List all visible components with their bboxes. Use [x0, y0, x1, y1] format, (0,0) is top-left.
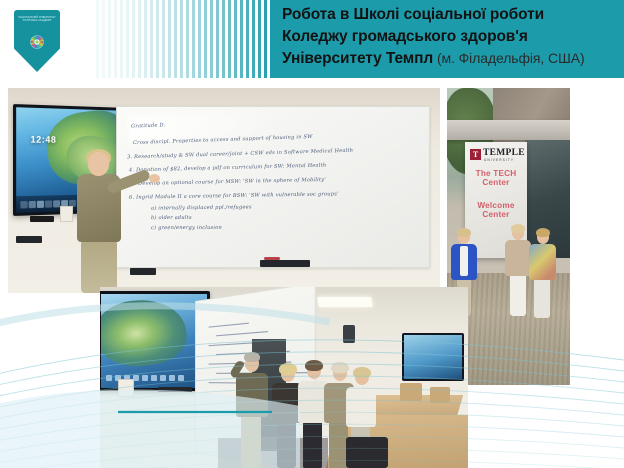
- photo-classroom-whiteboard: 12:48 Gratitude D.Cross discipl. Propert…: [8, 88, 440, 293]
- wall-tv-left: [100, 291, 210, 391]
- stripe-bar: [222, 0, 225, 78]
- marker-tray-far-left: [16, 236, 42, 243]
- taskbar-icon: [37, 201, 44, 208]
- tv-screen: [101, 294, 207, 388]
- person-hair: [457, 228, 471, 237]
- presenter-head: [88, 152, 109, 176]
- entrance-canopy: [447, 120, 570, 140]
- tv-clock: 12:48: [31, 134, 57, 145]
- stripe-bar: [102, 0, 105, 78]
- person-legs: [303, 421, 322, 468]
- chair-back: [400, 383, 422, 401]
- slide-header: Робота в Школі соціальної роботи Коледжу…: [0, 0, 624, 80]
- person-writing-at-board: [236, 349, 268, 468]
- presenter-legs: [81, 240, 117, 293]
- stripe-bar: [192, 0, 195, 78]
- person-hair: [353, 367, 371, 378]
- sign-university-subtext: UNIVERSITY: [484, 158, 514, 162]
- person-legs: [510, 274, 526, 316]
- stripe-bar: [264, 0, 267, 78]
- sign-tech-line-a: The TECH: [470, 169, 522, 178]
- sign-welcome-line-a: Welcome: [470, 201, 522, 210]
- taskbar-icon: [106, 375, 112, 381]
- stripe-bar: [210, 0, 213, 78]
- marker-tray: [158, 387, 192, 392]
- taskbar-icon: [160, 375, 166, 381]
- stripe-bar: [126, 0, 129, 78]
- stripe-bar: [174, 0, 177, 78]
- whiteboard-ink-stroke: [209, 323, 249, 328]
- sign-welcome-center-label: Welcome Center: [470, 201, 522, 219]
- person-hair: [305, 360, 323, 371]
- stripe-bar: [108, 0, 111, 78]
- ceiling-light-right: [317, 297, 373, 307]
- temple-t-letter: T: [470, 149, 481, 160]
- person-hair: [511, 224, 525, 233]
- whiteboard-note-line: 5. Develop an optional course for MSW: '…: [131, 177, 326, 187]
- page-title-line-1: Робота в Школі соціальної роботи: [282, 4, 620, 26]
- presenter-figure: [70, 152, 128, 293]
- photo-group-discussion: [100, 287, 468, 468]
- presentation-slide: Робота в Школі соціальної роботи Коледжу…: [0, 0, 624, 468]
- stripe-bar: [216, 0, 219, 78]
- page-title-line-2: Коледжу громадського здоров'я: [282, 26, 620, 48]
- marker-tray-right: [260, 260, 310, 267]
- stripe-bar: [240, 0, 243, 78]
- page-title-line-3: Університету Темпл (м. Філадельфія, США): [282, 48, 620, 70]
- stripe-bar: [168, 0, 171, 78]
- whiteboard-note-line: c) green/energy inclusion: [151, 225, 222, 231]
- taskbar-icon: [29, 201, 36, 208]
- stripe-bar: [198, 0, 201, 78]
- whiteboard-note-line: 6. Ingrid Module II a core course for BS…: [129, 191, 339, 200]
- title-banner: Робота в Школі соціальної роботи Коледжу…: [272, 0, 624, 78]
- presenter-hand: [149, 174, 160, 183]
- tv-wall-mount: [30, 216, 54, 222]
- page-title-location: (м. Філадельфія, США): [433, 50, 584, 66]
- person-jacket: [236, 373, 268, 417]
- taskbar-icon: [169, 375, 175, 381]
- person-shirt: [460, 246, 468, 276]
- stripe-bar: [96, 0, 99, 78]
- stripe-bar: [186, 0, 189, 78]
- person-floral-blouse: [529, 244, 556, 280]
- stripe-bar: [150, 0, 153, 78]
- marker-pen: [264, 257, 280, 260]
- stripe-bar: [252, 0, 255, 78]
- stripe-bar: [258, 0, 261, 78]
- whiteboard: Gratitude D.Cross discipl. Properties to…: [116, 106, 430, 268]
- whiteboard-note-line: b) older adults: [151, 215, 192, 221]
- taskbar-icon: [142, 375, 148, 381]
- taskbar-icon: [151, 375, 157, 381]
- stripe-bar: [180, 0, 183, 78]
- ceiling-speaker: [343, 325, 355, 343]
- taskbar-icon: [45, 200, 52, 207]
- stripe-bar: [234, 0, 237, 78]
- starburst-emblem-icon: [25, 30, 49, 54]
- sign-tech-line-b: Center: [470, 178, 522, 187]
- university-logo: НАЦІОНАЛЬНИЙ УНІВЕРСИТЕТ "ОСТРОЗЬКА АКАД…: [14, 10, 60, 72]
- wall-tv-right: [402, 333, 464, 381]
- person-floral-top: [529, 228, 556, 318]
- whiteboard-note-line: a) internally displaced ppl./refugees: [151, 204, 252, 211]
- taskbar-icon: [20, 201, 27, 208]
- stripe-bar: [120, 0, 123, 78]
- whiteboard-note-line: 3. Research/study & SW dual career/joint…: [127, 148, 353, 161]
- person-hair: [279, 363, 297, 375]
- whiteboard-note-line: 4. Donation of $82, develop a pdf on cur…: [129, 163, 326, 174]
- page-title-bold-part: Університету Темпл: [282, 50, 433, 67]
- stripe-bar: [204, 0, 207, 78]
- stripe-decoration: [96, 0, 276, 78]
- person-cardigan: [346, 387, 376, 427]
- person-beige-vest: [505, 224, 531, 316]
- stripe-bar: [246, 0, 249, 78]
- person-legs: [241, 415, 261, 468]
- stripe-bar: [138, 0, 141, 78]
- person-hair: [244, 352, 260, 362]
- whiteboard-ink-stroke: [216, 331, 268, 336]
- stripe-bar: [144, 0, 147, 78]
- person-legs: [534, 278, 550, 318]
- person-legs: [277, 421, 296, 468]
- chair-foreground: [346, 437, 388, 468]
- shield-caption: НАЦІОНАЛЬНИЙ УНІВЕРСИТЕТ "ОСТРОЗЬКА АКАД…: [18, 17, 56, 24]
- sign-tech-center-label: The TECH Center: [470, 169, 522, 187]
- stripe-bar: [132, 0, 135, 78]
- stripe-bar: [114, 0, 117, 78]
- sign-welcome-line-b: Center: [470, 210, 522, 219]
- taskbar-icon: [178, 375, 184, 381]
- stripe-bar: [156, 0, 159, 78]
- wall-outlet-plate: [118, 379, 134, 397]
- person-vest: [505, 240, 531, 276]
- tv-wallpaper-landmass: [101, 294, 189, 370]
- marker-tray-left: [130, 268, 156, 275]
- chair-back-2: [430, 387, 450, 403]
- tv-screen: [404, 335, 462, 379]
- stripe-bar: [228, 0, 231, 78]
- stripe-bar: [162, 0, 165, 78]
- person-hair: [536, 228, 550, 237]
- sign-temple-wordmark: TEMPLE: [483, 148, 525, 158]
